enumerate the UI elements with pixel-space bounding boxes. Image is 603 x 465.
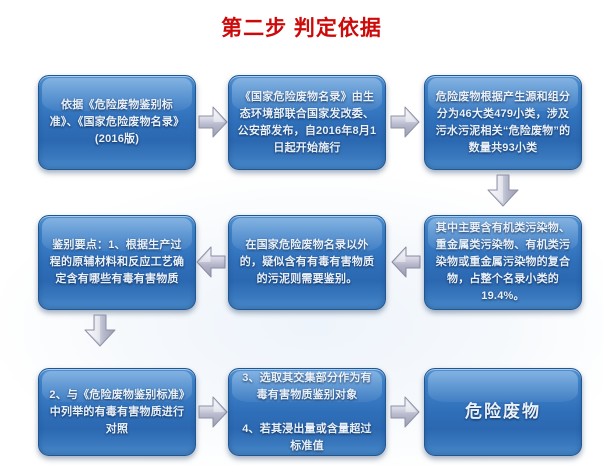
flow-node-result-hazardous-waste[interactable]: 危险废物 [424,368,582,456]
flow-node-catalog-issued[interactable]: 《国家危险废物名录》由生态环境部联合国家发改委、公安部发布，自2016年8月1日… [228,75,386,170]
arrow-right-icon [198,104,228,140]
flow-node-identification-point-1[interactable]: 鉴别要点：1、根据生产过程的原辅材料和反应工艺确定含有哪些有毒有害物质 [38,215,196,310]
flowchart-canvas: 第二步 判定依据 依据《危险废物鉴别标准》、《国家危险废物名录》(2016版) … [0,0,603,465]
arrow-left-icon [391,244,421,280]
flow-node-basis-standards[interactable]: 依据《危险废物鉴别标准》、《国家危险废物名录》(2016版) [38,75,196,170]
flow-node-identification-point-3-4[interactable]: 3、选取其交集部分作为有毒有害物质鉴别对象 4、若其浸出量或含量超过标准值 [228,368,386,456]
arrow-down-icon [485,174,521,210]
flow-node-text: 依据《危险废物鉴别标准》、《国家危险废物名录》(2016版) [47,97,187,148]
flow-node-text: 《国家危险废物名录》由生态环境部联合国家发改委、公安部发布，自2016年8月1日… [237,89,377,157]
flow-node-text: 3、选取其交集部分作为有毒有害物质鉴别对象 4、若其浸出量或含量超过标准值 [237,370,377,455]
flow-node-text: 鉴别要点：1、根据生产过程的原辅材料和反应工艺确定含有哪些有毒有害物质 [47,237,187,288]
arrow-down-icon [82,314,118,350]
flow-node-text: 2、与《危险废物鉴别标准》中列举的有毒有害物质进行对照 [47,387,187,438]
flow-node-text: 在国家危险废物名录以外的，疑似含有有毒有害物质的污泥则需要鉴别。 [237,237,377,288]
flow-node-outside-catalog[interactable]: 在国家危险废物名录以外的，疑似含有有毒有害物质的污泥则需要鉴别。 [228,215,386,310]
arrow-right-icon [390,394,420,430]
page-title: 第二步 判定依据 [0,12,603,42]
flow-node-identification-point-2[interactable]: 2、与《危险废物鉴别标准》中列举的有毒有害物质进行对照 [38,368,196,456]
flow-node-text: 其中主要含有机类污染物、重金属类污染物、有机类污染物或重金属污染物的复合物，占整… [433,220,573,305]
flow-node-pollutant-composition[interactable]: 其中主要含有机类污染物、重金属类污染物、有机类污染物或重金属污染物的复合物，占整… [424,215,582,310]
arrow-right-icon [390,104,420,140]
flow-node-text: 危险废物 [465,401,541,423]
flow-node-categories-count[interactable]: 危险废物根据产生源和组分分为46大类479小类，涉及污水污泥相关“危险废物”的数… [424,75,582,170]
arrow-right-icon [198,394,228,430]
flow-node-text: 危险废物根据产生源和组分分为46大类479小类，涉及污水污泥相关“危险废物”的数… [433,89,573,157]
arrow-left-icon [196,244,226,280]
